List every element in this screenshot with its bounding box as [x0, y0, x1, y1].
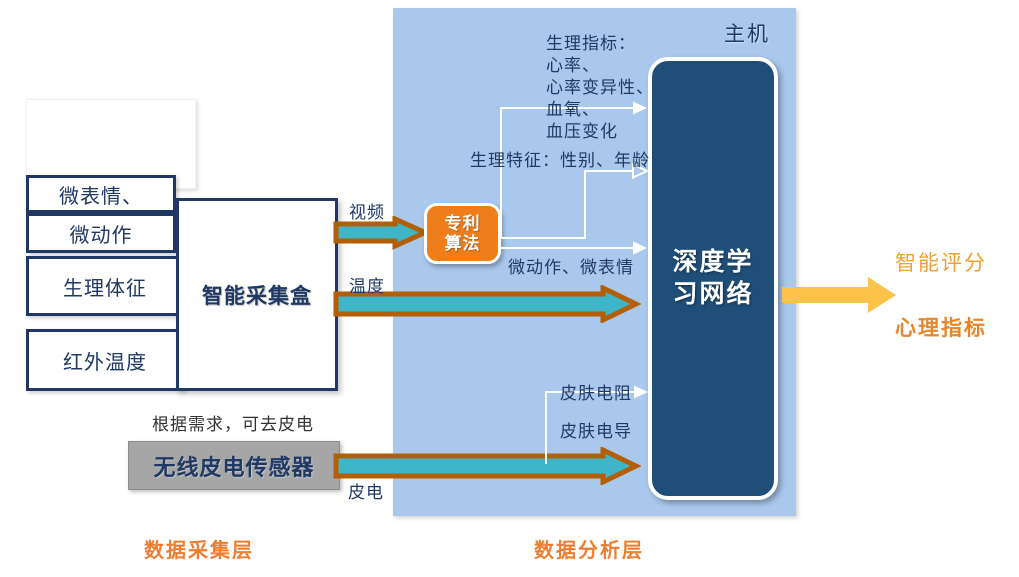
label-physiological-features: 生理特征：性别、年龄 — [470, 146, 650, 171]
smart-collector-box[interactable]: 智能采集盒 — [176, 198, 338, 391]
output-arrow — [782, 273, 900, 317]
gsr-optional-note: 根据需求，可去皮电 — [152, 410, 314, 435]
deep-learning-network-box[interactable]: 深度学 习网络 — [648, 57, 778, 500]
footer-data-collection-layer: 数据采集层 — [144, 534, 254, 563]
sensor-row-micro-movement[interactable]: 微动作 — [26, 213, 176, 253]
sensor-row-micro-expression[interactable]: 微表情、 — [26, 175, 176, 213]
footer-data-analysis-layer: 数据分析层 — [534, 534, 644, 563]
sensor-row-physiological-signs[interactable]: 生理体征 — [26, 256, 184, 316]
wireless-gsr-sensor-label: 无线皮电传感器 — [153, 450, 314, 482]
deep-learning-network-line2: 习网络 — [672, 279, 753, 310]
sensor-row-infrared-temperature[interactable]: 红外温度 — [26, 329, 184, 391]
deep-learning-network-line1: 深度学 — [672, 247, 753, 278]
label-skin-resistance: 皮肤电阻 — [560, 379, 632, 404]
host-label: 主机 — [724, 18, 770, 48]
output-intelligent-score: 智能评分 — [895, 247, 987, 277]
label-gsr: 皮电 — [348, 478, 384, 503]
wireless-gsr-sensor-box[interactable]: 无线皮电传感器 — [128, 441, 340, 490]
patent-algorithm-line2: 算法 — [445, 234, 481, 253]
diagram-canvas: 主机 微表情、 微动作 生理体征 红外温度 智能采集盒 根据需求，可去皮电 无线… — [0, 0, 1019, 577]
output-psychological-index: 心理指标 — [895, 312, 987, 342]
label-skin-conductance: 皮肤电导 — [560, 417, 632, 442]
patent-algorithm-line1: 专利 — [445, 214, 481, 233]
label-physiological-indices: 生理指标： 心率、 心率变异性、 血氧、 血压变化 — [546, 33, 654, 143]
smart-collector-box-label: 智能采集盒 — [202, 280, 312, 310]
label-micro-movement-expression: 微动作、微表情 — [508, 253, 634, 278]
label-temperature: 温度 — [349, 272, 385, 297]
patent-algorithm-box[interactable]: 专利 算法 — [424, 203, 501, 264]
label-video: 视频 — [349, 198, 385, 223]
